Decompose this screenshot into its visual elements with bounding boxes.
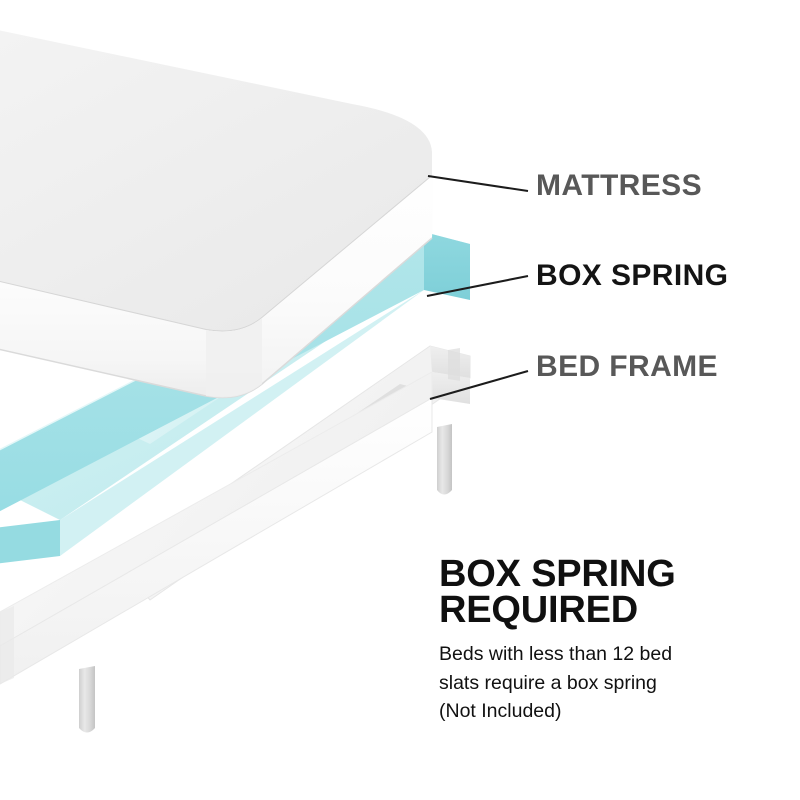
bed-frame-leg-right xyxy=(437,424,452,495)
copy-block: BOX SPRING REQUIRED Beds with less than … xyxy=(439,556,779,726)
bed-frame-leg-rear xyxy=(448,348,460,381)
infographic-canvas: MATTRESS BOX SPRING BED FRAME BOX SPRING… xyxy=(0,0,800,800)
copy-body: Beds with less than 12 bed slats require… xyxy=(439,640,779,726)
callout-label-box-spring: BOX SPRING xyxy=(536,261,728,291)
leader-line-mattress xyxy=(428,176,528,191)
bed-frame-leg-front-left xyxy=(79,666,95,733)
copy-heading: BOX SPRING REQUIRED xyxy=(439,556,779,628)
callout-label-mattress: MATTRESS xyxy=(536,171,702,201)
bed-frame-left-end xyxy=(0,606,14,684)
box-spring-front-band xyxy=(0,520,60,568)
mattress-layer xyxy=(0,18,433,398)
callout-label-bed-frame: BED FRAME xyxy=(536,352,718,382)
